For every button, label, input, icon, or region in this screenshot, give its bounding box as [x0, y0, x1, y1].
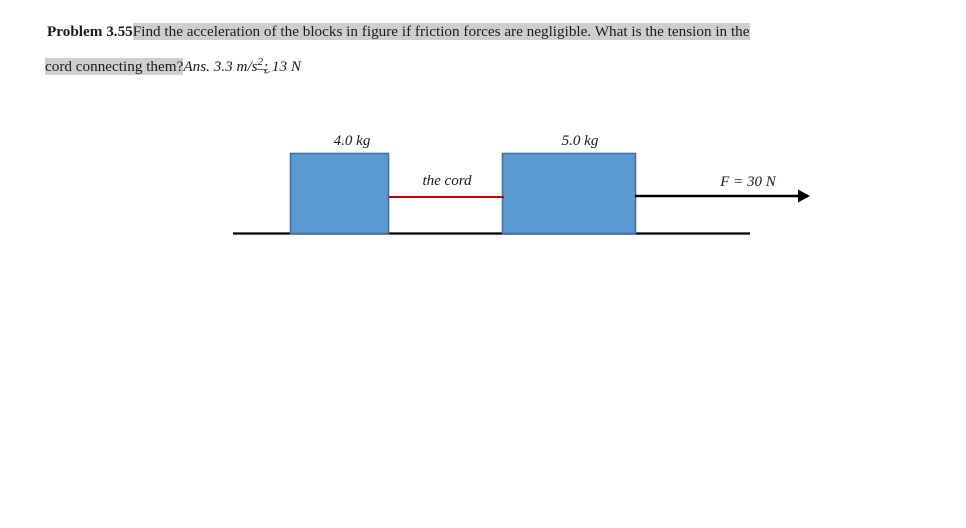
label-mass-left: 4.0 kg — [334, 133, 371, 149]
problem-label: Problem 3.55 — [47, 23, 133, 40]
answer-prefix: Ans. 3.3 m/s — [183, 58, 257, 75]
problem-line-2-question: cord connecting them? — [45, 58, 183, 75]
block-right — [503, 154, 636, 234]
answer-exponent: 2 — [258, 56, 263, 68]
force-arrow — [635, 190, 810, 203]
problem-line-1-text: Find the acceleration of the blocks in f… — [133, 23, 750, 40]
label-cord: the cord — [422, 173, 472, 189]
problem-statement: Problem 3.55Find the acceleration of the… — [45, 16, 951, 82]
block-left — [291, 154, 389, 234]
problem-line-1: Problem 3.55Find the acceleration of the… — [45, 16, 951, 47]
problem-line-2: cord connecting them?Ans. 3.3 m/s2; 13 N — [45, 47, 951, 82]
answer-text: Ans. 3.3 m/s2; 13 N — [183, 58, 303, 75]
label-force: F = 30 N — [719, 174, 777, 190]
label-mass-right: 5.0 kg — [562, 133, 599, 149]
